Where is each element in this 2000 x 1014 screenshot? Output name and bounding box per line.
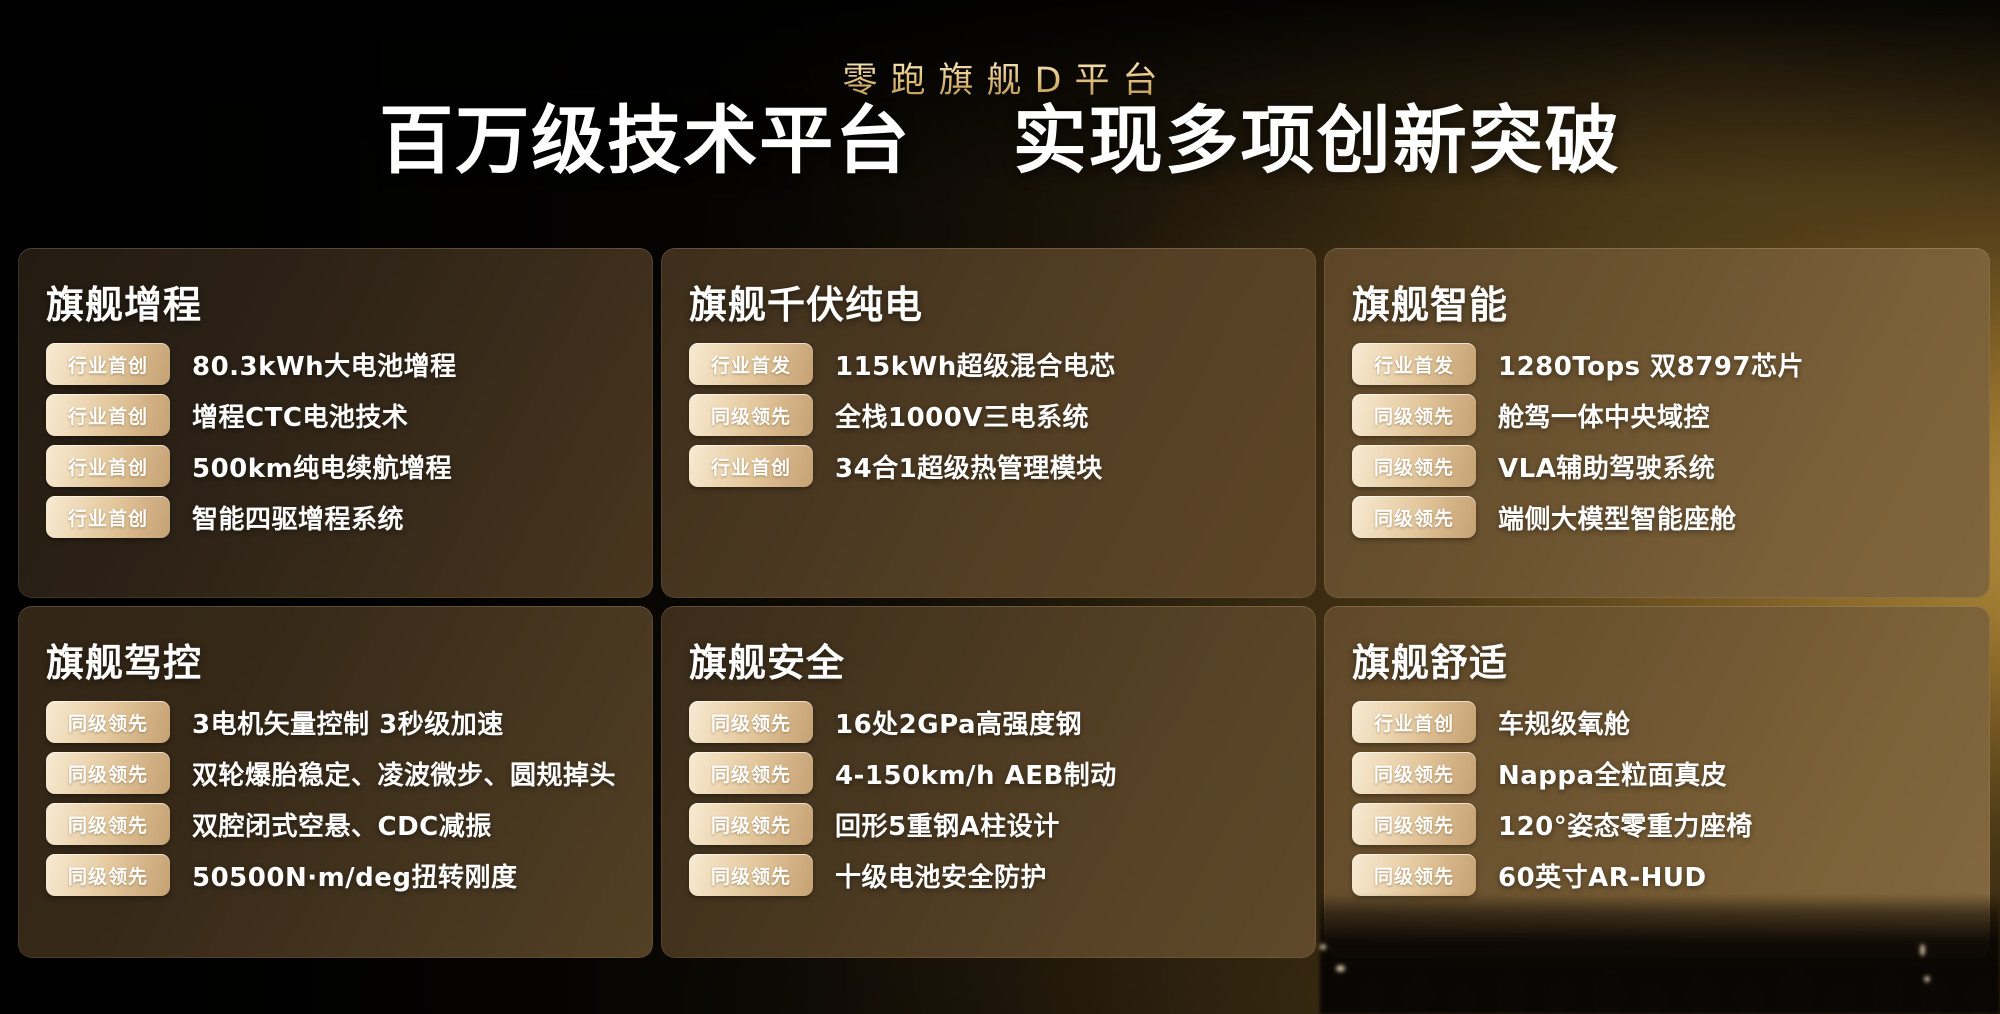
silhouette-head xyxy=(1548,978,1574,1014)
feature-label: 全栈1000V三电系统 xyxy=(835,397,1089,434)
feature-badge: 行业首发 xyxy=(1352,343,1476,385)
feature-badge: 同级领先 xyxy=(689,752,813,794)
feature-label: 120°姿态零重力座椅 xyxy=(1498,806,1753,843)
stage-light-spark xyxy=(1920,944,1925,956)
card-title: 旗舰增程 xyxy=(46,274,625,329)
feature-badge: 同级领先 xyxy=(1352,445,1476,487)
feature-label: 34合1超级热管理模块 xyxy=(835,448,1103,485)
feature-badge: 同级领先 xyxy=(689,854,813,896)
feature-badge: 行业首创 xyxy=(46,496,170,538)
feature-badge: 同级领先 xyxy=(1352,394,1476,436)
feature-card: 旗舰智能行业首发1280Tops 双8797芯片同级领先舱驾一体中央域控同级领先… xyxy=(1324,248,1990,598)
feature-label: VLA辅助驾驶系统 xyxy=(1498,448,1715,485)
feature-badge: 行业首创 xyxy=(46,343,170,385)
feature-row: 同级领先全栈1000V三电系统 xyxy=(689,394,1288,436)
feature-card-grid: 旗舰增程行业首创80.3kWh大电池增程行业首创增程CTC电池技术行业首创500… xyxy=(18,248,1982,962)
card-title: 旗舰安全 xyxy=(689,632,1288,687)
feature-row: 同级领先50500N·m/deg扭转刚度 xyxy=(46,854,625,896)
feature-label: 50500N·m/deg扭转刚度 xyxy=(192,857,518,894)
feature-row: 行业首发115kWh超级混合电芯 xyxy=(689,343,1288,385)
platform-eyebrow-title: 零跑旗舰D平台 xyxy=(0,52,2000,103)
feature-card: 旗舰千伏纯电行业首发115kWh超级混合电芯同级领先全栈1000V三电系统行业首… xyxy=(661,248,1316,598)
card-title: 旗舰智能 xyxy=(1352,274,1962,329)
silhouette-head xyxy=(1452,984,1474,1014)
silhouette-head xyxy=(1686,972,1717,1014)
feature-row: 同级领先60英寸AR-HUD xyxy=(1352,854,1962,896)
feature-badge: 同级领先 xyxy=(46,701,170,743)
stage-light-spark xyxy=(1336,965,1345,972)
feature-row: 同级领先十级电池安全防护 xyxy=(689,854,1288,896)
feature-list: 同级领先3电机矢量控制 3秒级加速同级领先双轮爆胎稳定、凌波微步、圆规掉头同级领… xyxy=(46,701,625,896)
card-title: 旗舰千伏纯电 xyxy=(689,274,1288,329)
feature-label: 80.3kWh大电池增程 xyxy=(192,346,457,383)
feature-list: 同级领先16处2GPa高强度钢同级领先4-150km/h AEB制动同级领先回形… xyxy=(689,701,1288,896)
card-title: 旗舰舒适 xyxy=(1352,632,1962,687)
feature-row: 同级领先VLA辅助驾驶系统 xyxy=(1352,445,1962,487)
page-title-left: 百万级技术平台 xyxy=(379,98,911,184)
silhouette-head xyxy=(1496,970,1529,1014)
feature-badge: 同级领先 xyxy=(689,701,813,743)
feature-label: Nappa全粒面真皮 xyxy=(1498,755,1727,792)
page-title: 百万级技术平台 实现多项创新突破 xyxy=(0,104,2000,178)
stage-light-spark xyxy=(1924,976,1930,982)
feature-label: 115kWh超级混合电芯 xyxy=(835,346,1116,383)
feature-row: 同级领先4-150km/h AEB制动 xyxy=(689,752,1288,794)
audience-silhouette xyxy=(1320,894,2000,1014)
feature-row: 同级领先双轮爆胎稳定、凌波微步、圆规掉头 xyxy=(46,752,625,794)
feature-list: 行业首创80.3kWh大电池增程行业首创增程CTC电池技术行业首创500km纯电… xyxy=(46,343,625,538)
feature-label: 60英寸AR-HUD xyxy=(1498,857,1707,894)
feature-label: 回形5重钢A柱设计 xyxy=(835,806,1060,843)
feature-row: 行业首创500km纯电续航增程 xyxy=(46,445,625,487)
feature-list: 行业首发115kWh超级混合电芯同级领先全栈1000V三电系统行业首创34合1超… xyxy=(689,343,1288,487)
feature-badge: 同级领先 xyxy=(1352,752,1476,794)
silhouette-head xyxy=(1778,966,1813,1014)
presentation-slide: 零跑旗舰D平台 百万级技术平台 实现多项创新突破 旗舰增程行业首创80.3kWh… xyxy=(0,0,2000,1014)
feature-label: 车规级氧舱 xyxy=(1498,704,1631,741)
feature-badge: 行业首创 xyxy=(1352,701,1476,743)
feature-row: 同级领先回形5重钢A柱设计 xyxy=(689,803,1288,845)
feature-label: 端侧大模型智能座舱 xyxy=(1498,499,1737,536)
feature-label: 1280Tops 双8797芯片 xyxy=(1498,346,1804,383)
feature-row: 行业首创80.3kWh大电池增程 xyxy=(46,343,625,385)
feature-label: 智能四驱增程系统 xyxy=(192,499,404,536)
feature-badge: 同级领先 xyxy=(46,854,170,896)
feature-label: 舱驾一体中央域控 xyxy=(1498,397,1710,434)
feature-badge: 行业首创 xyxy=(46,445,170,487)
feature-row: 同级领先Nappa全粒面真皮 xyxy=(1352,752,1962,794)
feature-badge: 行业首发 xyxy=(689,343,813,385)
feature-badge: 行业首创 xyxy=(689,445,813,487)
feature-list: 行业首发1280Tops 双8797芯片同级领先舱驾一体中央域控同级领先VLA辅… xyxy=(1352,343,1962,538)
silhouette-head xyxy=(1404,974,1434,1014)
feature-row: 同级领先端侧大模型智能座舱 xyxy=(1352,496,1962,538)
silhouette-head xyxy=(1872,970,1904,1014)
silhouette-head xyxy=(1828,980,1853,1014)
feature-row: 同级领先16处2GPa高强度钢 xyxy=(689,701,1288,743)
feature-label: 4-150km/h AEB制动 xyxy=(835,755,1117,792)
feature-row: 行业首发1280Tops 双8797芯片 xyxy=(1352,343,1962,385)
stage-light-spark xyxy=(1320,944,1326,950)
silhouette-head xyxy=(1592,968,1626,1014)
feature-badge: 同级领先 xyxy=(689,394,813,436)
card-title: 旗舰驾控 xyxy=(46,632,625,687)
feature-list: 行业首创车规级氧舱同级领先Nappa全粒面真皮同级领先120°姿态零重力座椅同级… xyxy=(1352,701,1962,896)
silhouette-head xyxy=(1734,976,1762,1014)
feature-label: 双腔闭式空悬、CDC减振 xyxy=(192,806,492,843)
feature-label: 16处2GPa高强度钢 xyxy=(835,704,1082,741)
feature-label: 双轮爆胎稳定、凌波微步、圆规掉头 xyxy=(192,755,616,792)
feature-row: 行业首创车规级氧舱 xyxy=(1352,701,1962,743)
feature-row: 行业首创34合1超级热管理模块 xyxy=(689,445,1288,487)
feature-badge: 同级领先 xyxy=(46,803,170,845)
feature-row: 行业首创增程CTC电池技术 xyxy=(46,394,625,436)
feature-card: 旗舰安全同级领先16处2GPa高强度钢同级领先4-150km/h AEB制动同级… xyxy=(661,606,1316,958)
feature-label: 十级电池安全防护 xyxy=(835,857,1047,894)
feature-row: 同级领先120°姿态零重力座椅 xyxy=(1352,803,1962,845)
silhouette-head xyxy=(1966,978,1992,1014)
feature-badge: 同级领先 xyxy=(46,752,170,794)
feature-card: 旗舰驾控同级领先3电机矢量控制 3秒级加速同级领先双轮爆胎稳定、凌波微步、圆规掉… xyxy=(18,606,653,958)
feature-label: 3电机矢量控制 3秒级加速 xyxy=(192,704,504,741)
feature-badge: 同级领先 xyxy=(1352,496,1476,538)
feature-row: 行业首创智能四驱增程系统 xyxy=(46,496,625,538)
feature-row: 同级领先3电机矢量控制 3秒级加速 xyxy=(46,701,625,743)
feature-label: 增程CTC电池技术 xyxy=(192,397,408,434)
silhouette-head xyxy=(1642,982,1666,1014)
feature-badge: 同级领先 xyxy=(1352,854,1476,896)
feature-badge: 行业首创 xyxy=(46,394,170,436)
page-title-right: 实现多项创新突破 xyxy=(1013,98,1621,184)
feature-badge: 同级领先 xyxy=(1352,803,1476,845)
feature-label: 500km纯电续航增程 xyxy=(192,448,452,485)
feature-card: 旗舰增程行业首创80.3kWh大电池增程行业首创增程CTC电池技术行业首创500… xyxy=(18,248,653,598)
feature-badge: 同级领先 xyxy=(689,803,813,845)
silhouette-head xyxy=(1360,980,1384,1014)
feature-row: 同级领先舱驾一体中央域控 xyxy=(1352,394,1962,436)
feature-row: 同级领先双腔闭式空悬、CDC减振 xyxy=(46,803,625,845)
